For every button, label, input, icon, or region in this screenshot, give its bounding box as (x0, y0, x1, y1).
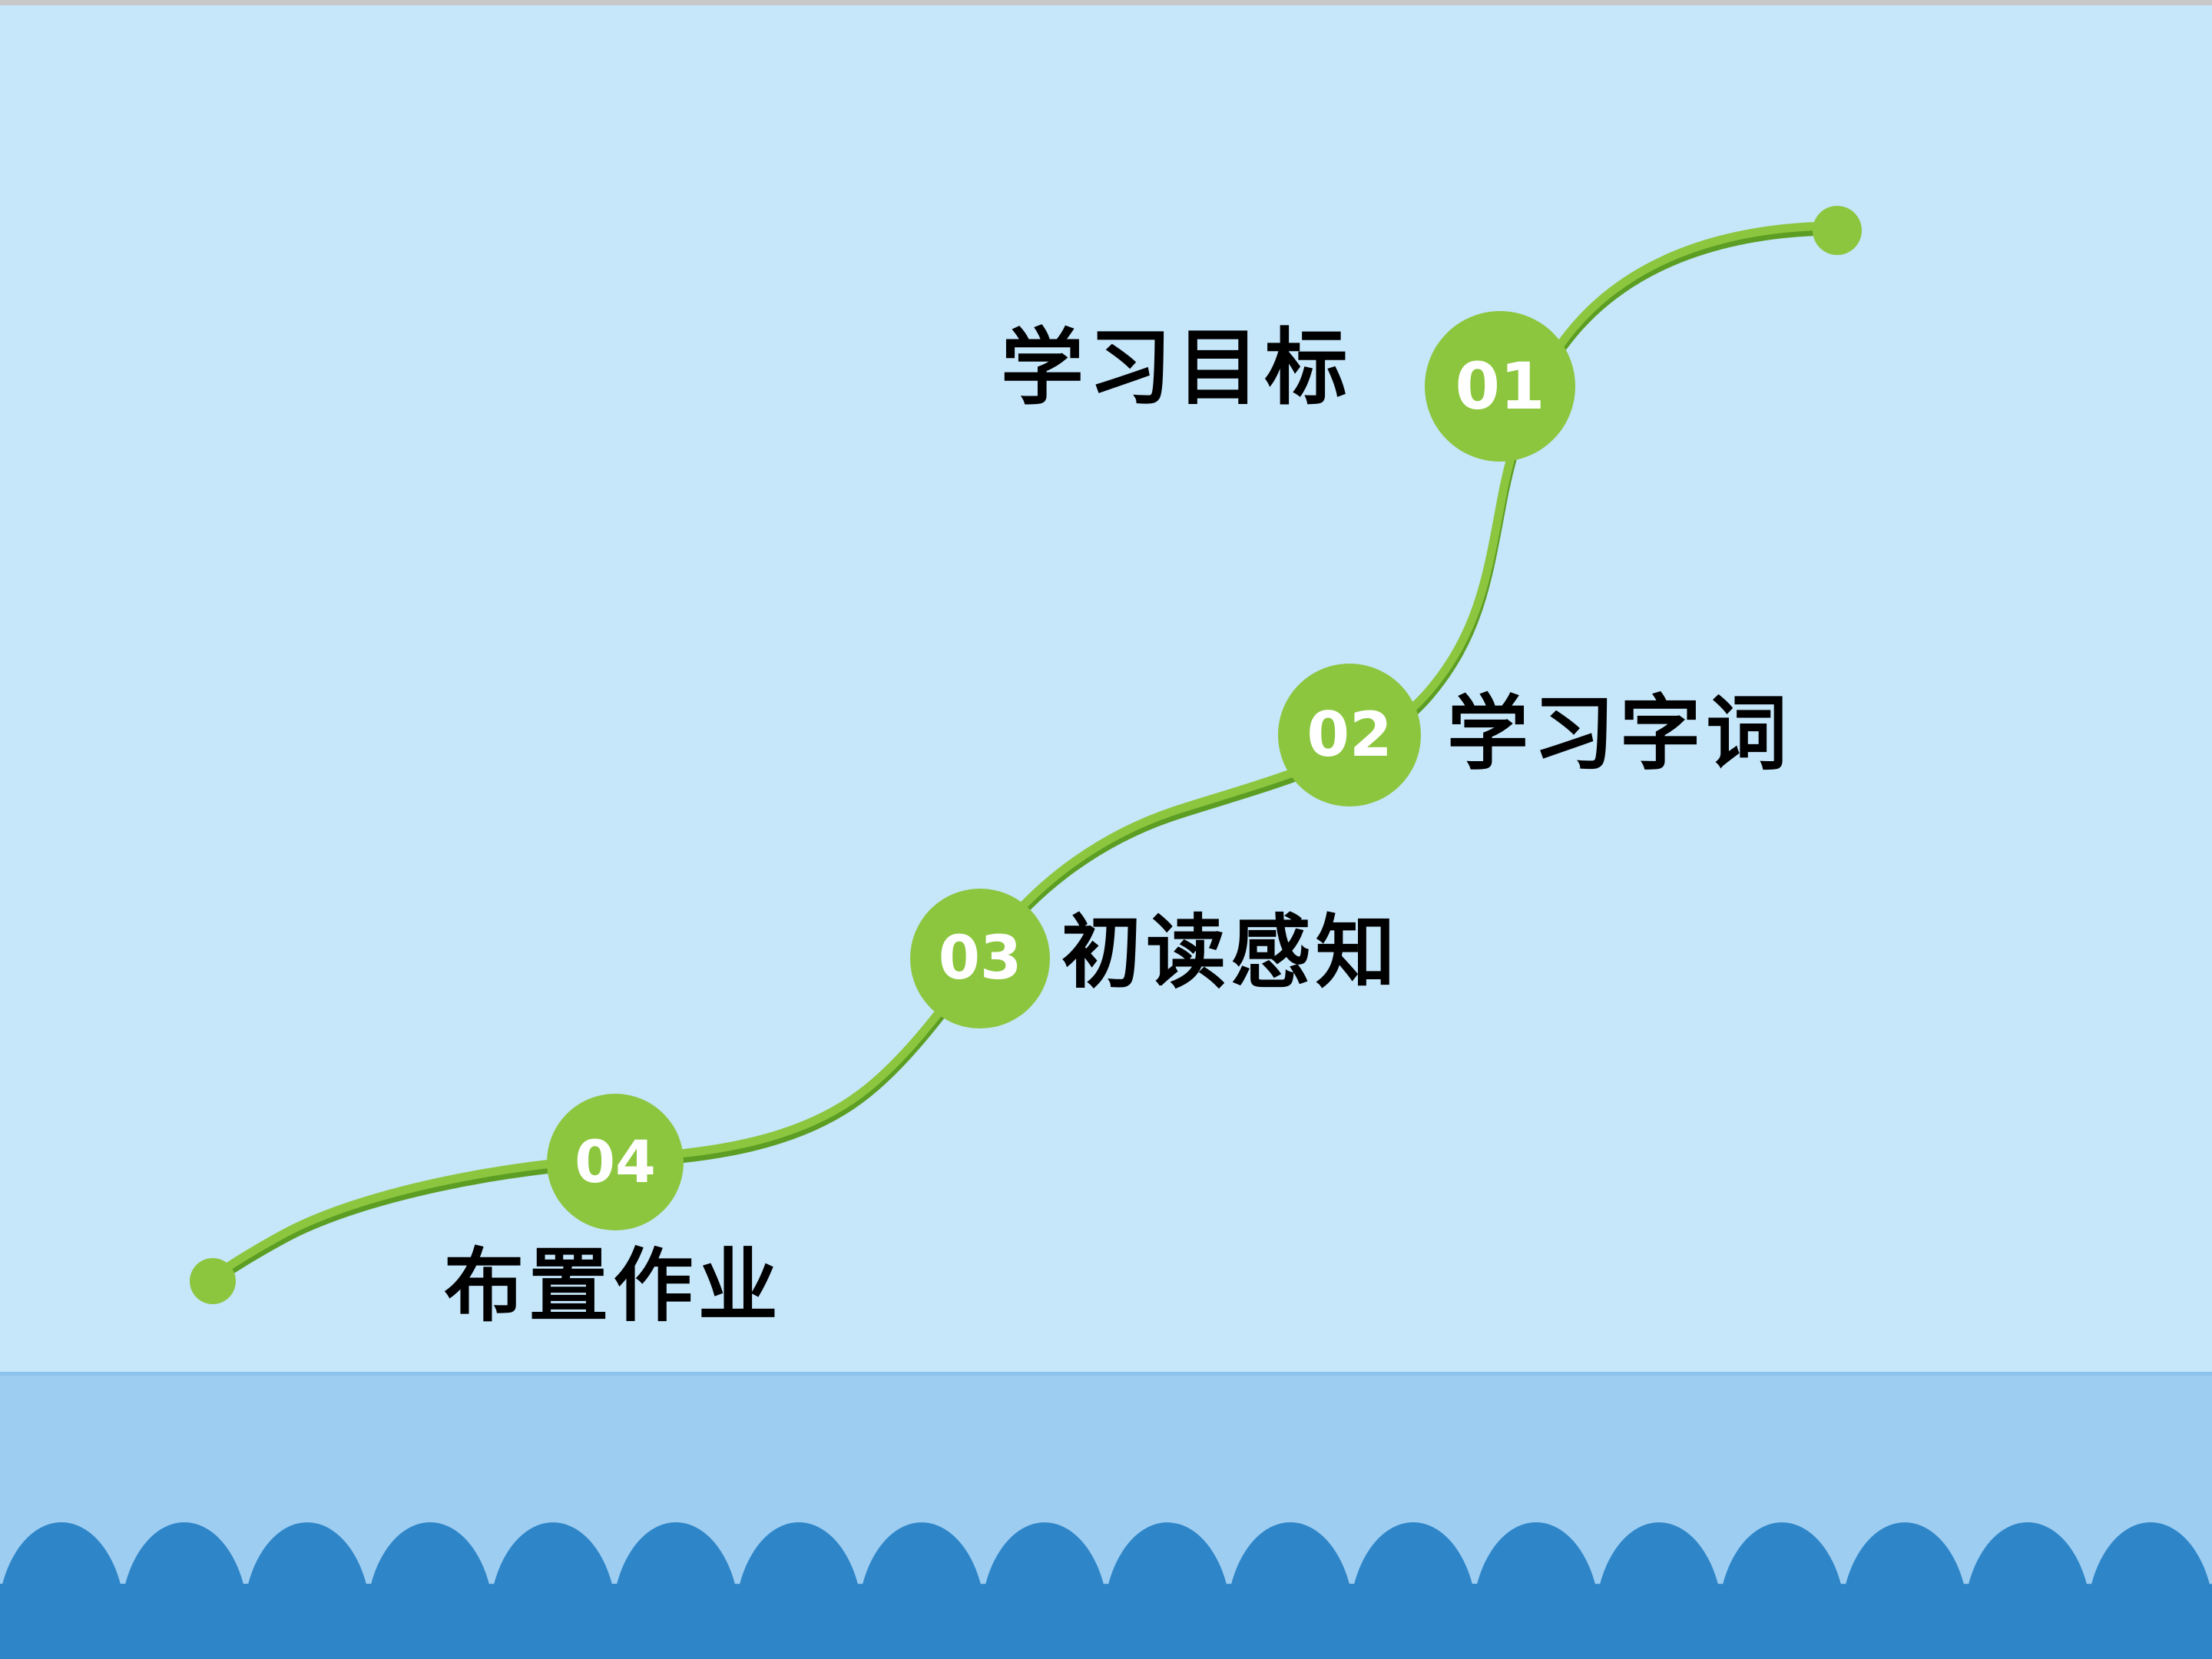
step-label-03: 初读感知 (1061, 912, 1400, 992)
step-node-04[interactable]: 04 (547, 1094, 684, 1230)
slide-canvas: 01 02 03 04 学习目标 学习字词 初读感知 布置作业 (0, 0, 2212, 1659)
step-label-01: 学习目标 (1001, 326, 1353, 409)
step-node-02[interactable]: 02 (1278, 664, 1421, 806)
path-endpoint-left (190, 1258, 236, 1304)
step-path (0, 0, 2212, 1659)
step-number-04: 04 (575, 1133, 656, 1191)
step-number-02: 02 (1306, 704, 1392, 766)
step-node-03[interactable]: 03 (910, 889, 1050, 1028)
step-node-01[interactable]: 01 (1425, 311, 1575, 462)
step-label-02: 学习字词 (1447, 693, 1792, 774)
step-label-04: 布置作业 (444, 1246, 783, 1326)
step-number-03: 03 (939, 929, 1022, 988)
step-number-01: 01 (1455, 354, 1545, 419)
path-endpoint-right (1813, 206, 1862, 255)
